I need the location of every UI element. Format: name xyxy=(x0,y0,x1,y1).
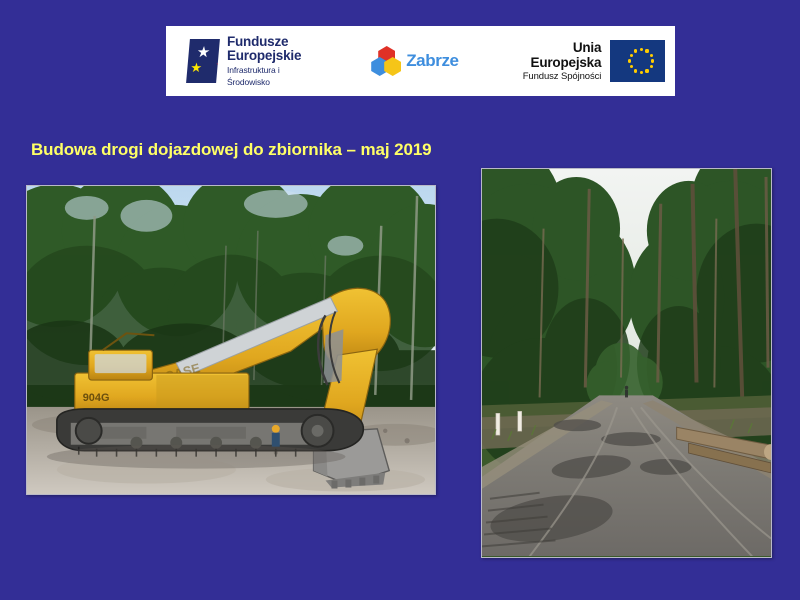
excavator-photo: CASE xyxy=(26,185,436,495)
eu-flag-star-icon xyxy=(634,49,637,52)
eu-flag-star-icon xyxy=(630,65,633,68)
excavator-photo-graphic: CASE xyxy=(27,186,435,494)
logo-fundusze-europejskie: Fundusze Europejskie Infrastruktura i Śr… xyxy=(188,35,313,88)
svg-text:904G: 904G xyxy=(83,392,110,404)
fe-line-1: Fundusze xyxy=(227,35,313,49)
eu-flag-star-icon xyxy=(650,65,653,68)
zabrze-wordmark: Zabrze xyxy=(406,51,458,71)
fundusze-europejskie-flag-icon xyxy=(188,39,218,83)
eu-flag-icon xyxy=(610,40,665,82)
eu-flag-star-icon xyxy=(650,54,653,57)
eu-flag-star-icon xyxy=(645,49,648,52)
eu-flag-star-icon xyxy=(628,59,631,62)
forest-road-photo-graphic xyxy=(482,169,771,556)
funding-logo-banner: Fundusze Europejskie Infrastruktura i Śr… xyxy=(166,26,675,96)
ue-line-1: Unia Europejska xyxy=(511,40,602,70)
eu-flag-star-icon xyxy=(634,69,637,72)
forest-road-photo xyxy=(481,168,772,558)
eu-flag-star-icon xyxy=(645,69,648,72)
zabrze-hexagon-icon xyxy=(371,46,401,76)
eu-flag-star-icon xyxy=(640,48,643,51)
ue-line-2: Fundusz Spójności xyxy=(511,70,602,83)
logo-unia-europejska: Unia Europejska Fundusz Spójności xyxy=(511,40,665,83)
fe-line-3: Infrastruktura i Środowisko xyxy=(227,64,313,88)
presentation-slide: Fundusze Europejskie Infrastruktura i Śr… xyxy=(0,0,800,600)
fe-line-2: Europejskie xyxy=(227,49,313,63)
eu-flag-star-icon xyxy=(651,59,654,62)
logo-zabrze: Zabrze xyxy=(371,46,458,76)
eu-flag-star-icon xyxy=(630,54,633,57)
page-title: Budowa drogi dojazdowej do zbiornika – m… xyxy=(31,140,432,160)
eu-flag-star-icon xyxy=(640,71,643,74)
